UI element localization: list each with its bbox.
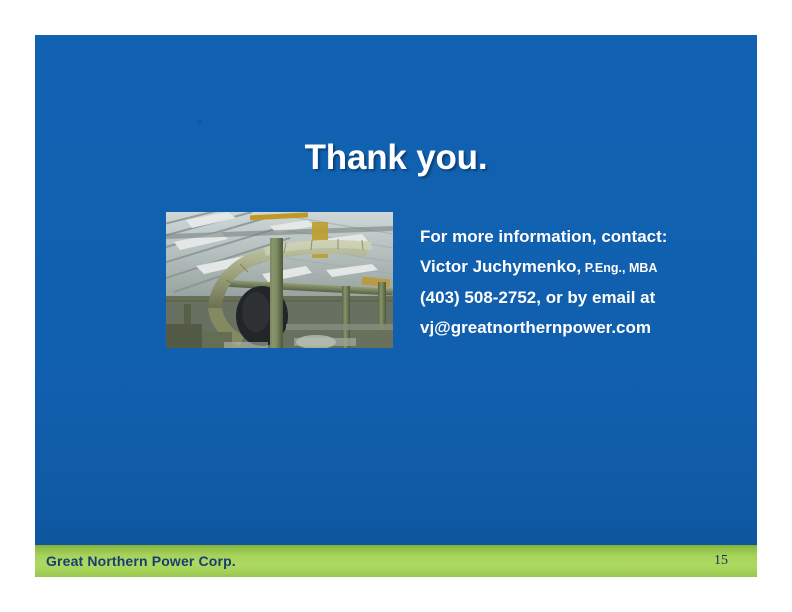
contact-name: Victor Juchymenko, xyxy=(420,257,581,276)
contact-name-line: Victor Juchymenko, P.Eng., MBA xyxy=(420,252,740,283)
footer-company-name: Great Northern Power Corp. xyxy=(46,545,236,577)
page-title: Thank you. xyxy=(35,138,757,178)
slide-page: Thank you. xyxy=(0,0,792,612)
contact-credentials: P.Eng., MBA xyxy=(581,261,657,275)
presentation-slide: Thank you. xyxy=(35,35,757,577)
industrial-facility-photo xyxy=(166,212,393,348)
photo-image xyxy=(166,212,393,348)
page-number: 15 xyxy=(714,545,728,577)
bullet-artifact-icon xyxy=(197,120,202,125)
contact-phone-line: (403) 508-2752, or by email at xyxy=(420,283,740,313)
contact-intro-line: For more information, contact: xyxy=(420,222,740,252)
slide-footer: Great Northern Power Corp. 15 xyxy=(35,545,757,577)
contact-email[interactable]: vj@greatnorthernpower.com xyxy=(420,313,740,343)
contact-information: For more information, contact: Victor Ju… xyxy=(420,222,740,343)
